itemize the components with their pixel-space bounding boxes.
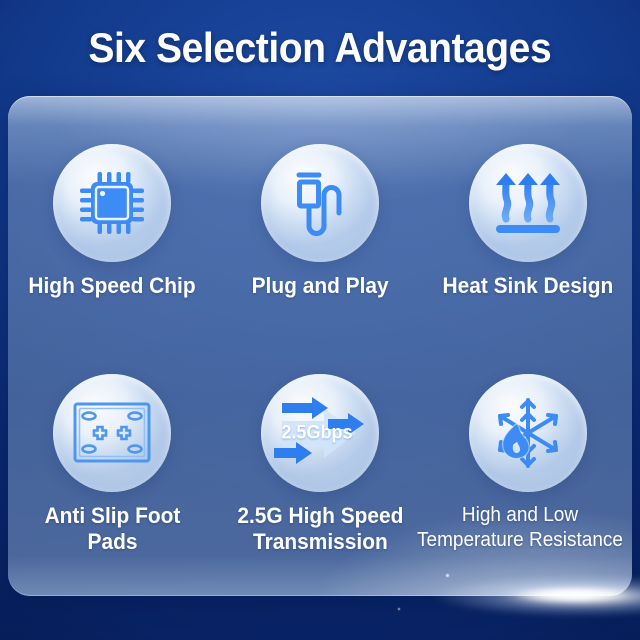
plug-cable-icon	[283, 166, 357, 240]
feature-item-high-speed-chip[interactable]: High Speed Chip	[8, 144, 216, 299]
feature-label: Heat Sink Design	[443, 273, 614, 299]
spark-dot	[446, 574, 449, 577]
speed-arrows-icon	[272, 395, 368, 471]
heat-arrows-icon	[491, 166, 565, 240]
feature-label: Anti Slip Foot Pads	[44, 503, 180, 555]
feature-item-anti-slip-foot-pads[interactable]: Anti Slip Foot Pads	[8, 374, 216, 555]
spark-dot	[398, 608, 400, 610]
feature-item-heat-sink-design[interactable]: Heat Sink Design	[424, 144, 632, 299]
icon-bubble	[53, 374, 171, 492]
feature-label: High and Low Temperature Resistance	[406, 503, 634, 553]
promo-banner: Six Selection Advantages	[0, 0, 640, 640]
feature-label: 2.5G High Speed Transmission	[237, 503, 403, 555]
icon-bubble	[469, 144, 587, 262]
features-grid: High Speed Chip Plug and Play	[8, 96, 632, 596]
feature-item-high-speed-transmission[interactable]: 2.5Gbps 2.5G High Speed Transmission	[216, 374, 424, 555]
icon-bubble	[53, 144, 171, 262]
snowflake-flame-icon	[489, 394, 567, 472]
feature-item-temperature-resistance[interactable]: High and Low Temperature Resistance	[424, 374, 632, 553]
cpu-chip-icon	[75, 166, 149, 240]
page-title: Six Selection Advantages	[89, 24, 552, 72]
header: Six Selection Advantages	[0, 0, 640, 96]
feature-item-plug-and-play[interactable]: Plug and Play	[216, 144, 424, 299]
icon-bubble: 2.5Gbps	[261, 374, 379, 492]
foot-pads-icon	[72, 400, 152, 466]
icon-bubble	[469, 374, 587, 492]
feature-label: High Speed Chip	[28, 273, 195, 299]
feature-label: Plug and Play	[251, 273, 388, 299]
icon-bubble	[261, 144, 379, 262]
